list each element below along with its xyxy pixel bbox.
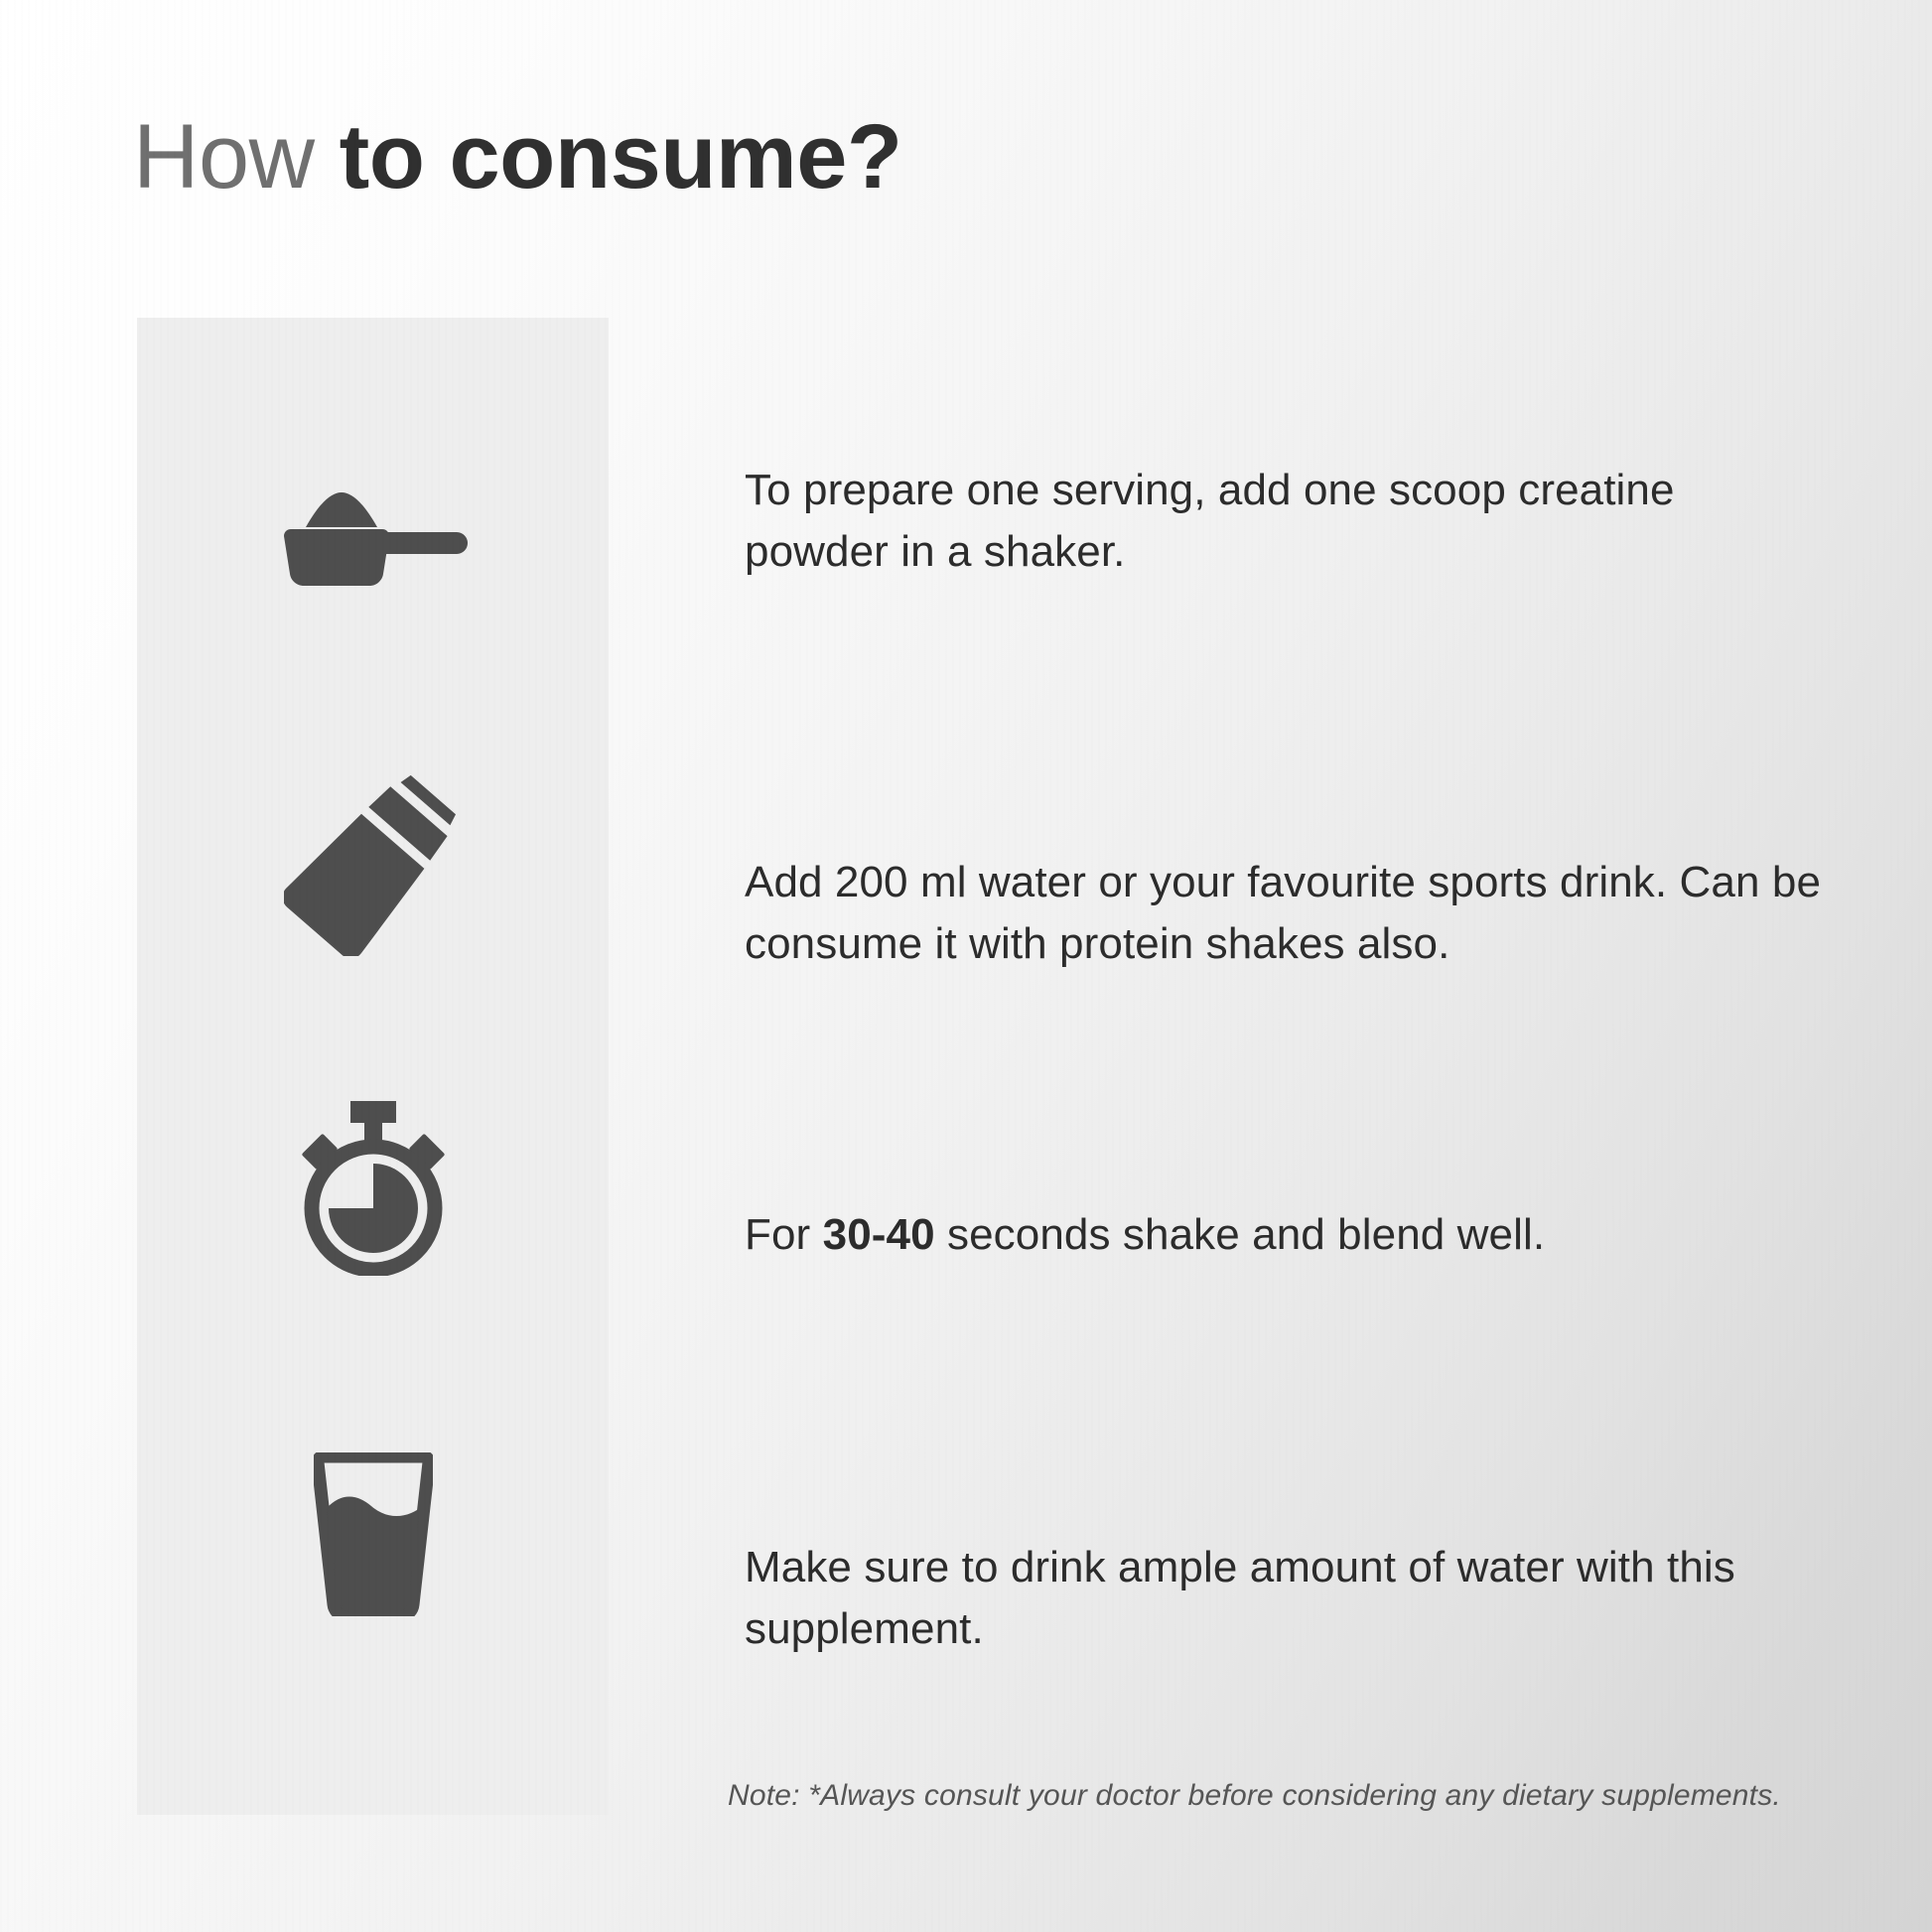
page-title-light: How: [133, 106, 340, 207]
step-text-2: Add 200 ml water or your favourite sport…: [745, 852, 1827, 974]
step-icon-2: [137, 750, 609, 978]
step-text-3-suffix: seconds shake and blend well.: [935, 1210, 1546, 1259]
step-icon-4: [137, 1420, 609, 1648]
step-text-1-body: To prepare one serving, add one scoop cr…: [745, 466, 1675, 576]
page-title-bold: to consume?: [340, 106, 902, 207]
measuring-scoop-icon: [276, 486, 471, 586]
step-text-4-body: Make sure to drink ample amount of water…: [745, 1543, 1735, 1653]
disclaimer-note: Note: *Always consult your doctor before…: [728, 1776, 1840, 1815]
step-icon-3: [137, 1072, 609, 1301]
step-icon-1: [137, 442, 609, 630]
icon-panel: [137, 318, 609, 1815]
page-title: How to consume?: [133, 111, 902, 203]
step-text-3-duration: 30-40: [823, 1210, 935, 1259]
step-text-1: To prepare one serving, add one scoop cr…: [745, 460, 1797, 582]
step-text-3: For 30-40 seconds shake and blend well.: [745, 1204, 1797, 1266]
infographic-poster: How to consume?: [0, 0, 1932, 1932]
stopwatch-icon: [289, 1097, 458, 1276]
step-text-2-body: Add 200 ml water or your favourite sport…: [745, 858, 1821, 968]
step-text-4: Make sure to drink ample amount of water…: [745, 1537, 1737, 1659]
step-text-3-prefix: For: [745, 1210, 823, 1259]
shaker-bottle-icon: [284, 772, 463, 956]
water-glass-icon: [314, 1452, 433, 1616]
